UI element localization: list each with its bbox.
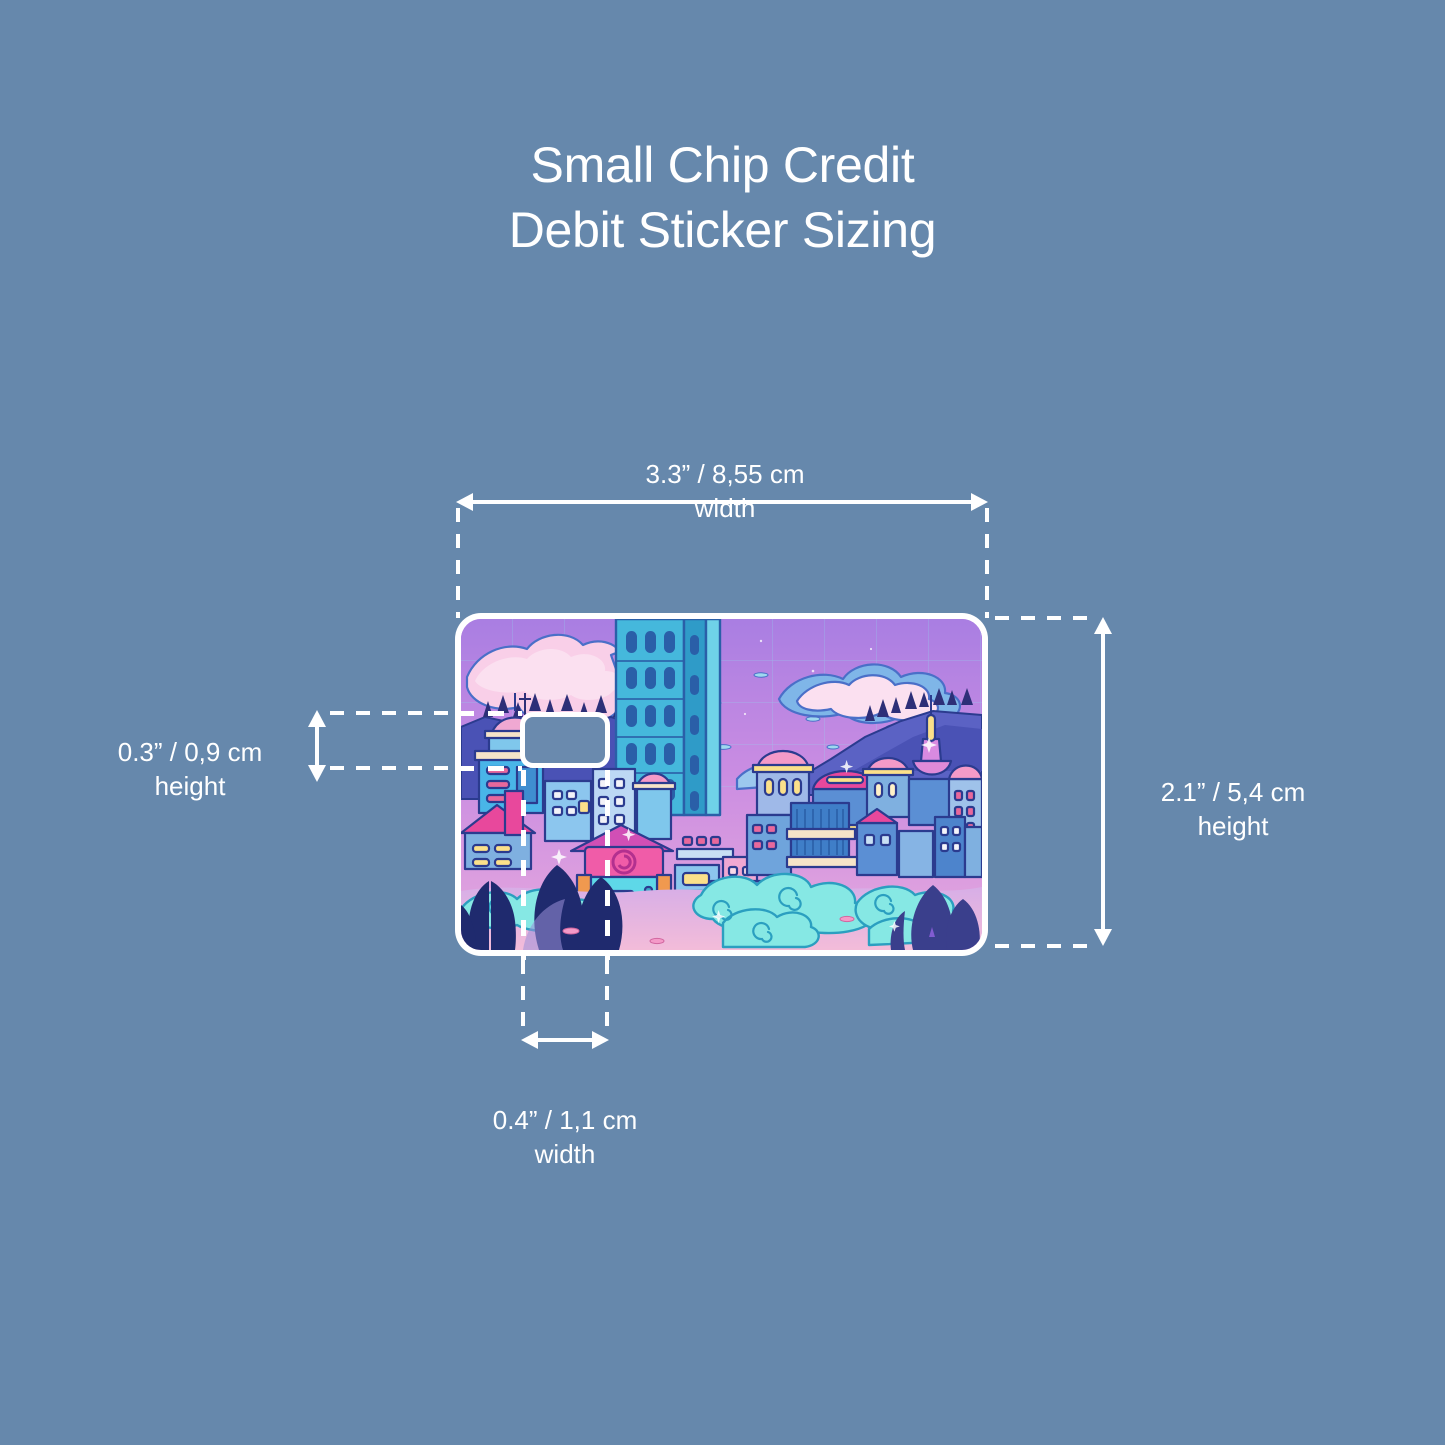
chip-width-extension-left bbox=[521, 960, 525, 1032]
chip-height-guide-top-over-card bbox=[458, 711, 522, 716]
chip-height-extension-top bbox=[330, 711, 458, 715]
card-width-value: 3.3” / 8,55 cm bbox=[646, 459, 805, 489]
card-height-arrow-line bbox=[1101, 633, 1105, 930]
card-width-extension-left bbox=[456, 508, 460, 618]
card-artwork bbox=[461, 619, 982, 950]
chip-width-label: 0.4” / 1,1 cm width bbox=[440, 1068, 690, 1206]
card-width-label: 3.3” / 8,55 cm width bbox=[565, 422, 885, 560]
chip-height-extension-bottom bbox=[330, 766, 458, 770]
chip-height-value: 0.3” / 0,9 cm bbox=[118, 737, 263, 767]
chip-height-arrow-line bbox=[315, 726, 319, 766]
chip-width-arrow-right bbox=[592, 1031, 609, 1049]
card-width-arrow-line bbox=[472, 500, 972, 504]
card-height-label: 2.1” / 5,4 cm height bbox=[1118, 740, 1348, 878]
chip-cutout[interactable] bbox=[520, 712, 610, 768]
chip-height-arrow-down bbox=[308, 765, 326, 782]
card-height-value: 2.1” / 5,4 cm bbox=[1161, 777, 1306, 807]
card-height-unit: height bbox=[1118, 809, 1348, 844]
chip-height-label: 0.3” / 0,9 cm height bbox=[70, 700, 310, 838]
card-height-extension-top bbox=[995, 616, 1095, 620]
card-height-arrow-up bbox=[1094, 617, 1112, 634]
chip-width-arrow-left bbox=[521, 1031, 538, 1049]
chip-width-value: 0.4” / 1,1 cm bbox=[493, 1105, 638, 1135]
page-title: Small Chip Credit Debit Sticker Sizing bbox=[0, 133, 1445, 263]
card-sticker[interactable] bbox=[455, 613, 988, 956]
card-height-arrow-down bbox=[1094, 929, 1112, 946]
chip-width-guide-left-over-card bbox=[521, 770, 526, 960]
card-width-unit: width bbox=[565, 491, 885, 526]
chip-height-arrow-up bbox=[308, 710, 326, 727]
chip-width-guide-right-over-card bbox=[605, 770, 610, 960]
chip-width-extension-right bbox=[605, 960, 609, 1032]
card-height-extension-bottom bbox=[995, 944, 1095, 948]
chip-height-unit: height bbox=[70, 769, 310, 804]
sticker-sizing-diagram: Small Chip Credit Debit Sticker Sizing 3… bbox=[0, 0, 1445, 1445]
chip-width-unit: width bbox=[440, 1137, 690, 1172]
chip-height-guide-bottom-over-card bbox=[458, 766, 522, 771]
card-width-extension-right bbox=[985, 508, 989, 618]
chip-width-arrow-line bbox=[537, 1038, 593, 1042]
